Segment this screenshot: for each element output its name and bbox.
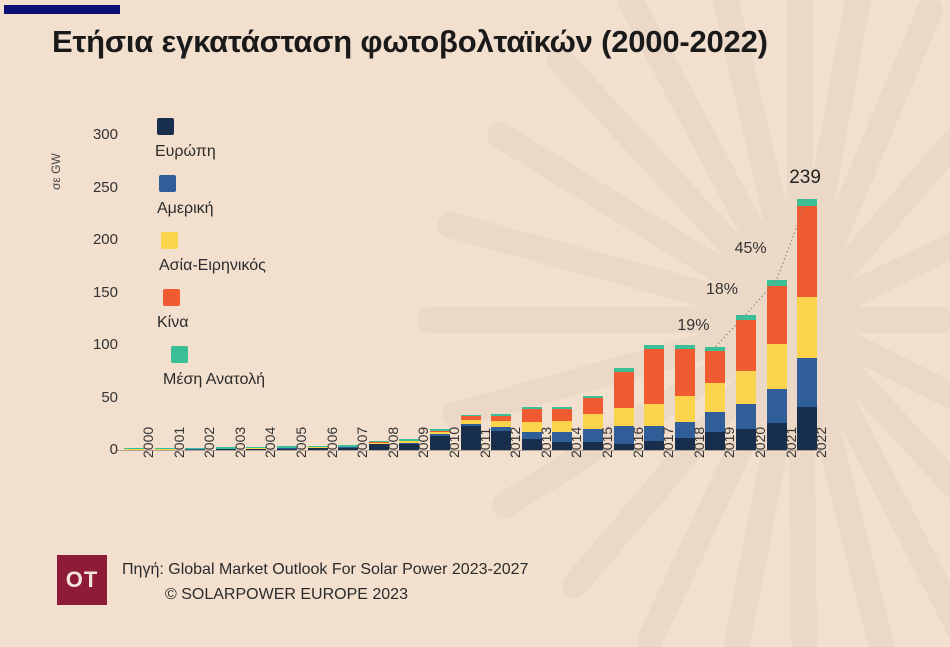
x-tick-label: 2004 [262,427,278,458]
infographic-canvas: Ετήσια εγκατάσταση φωτοβολταϊκών (2000-2… [0,0,950,647]
x-tick-label: 2014 [568,427,584,458]
x-tick-label: 2019 [721,427,737,458]
x-tick-label: 2008 [385,427,401,458]
x-tick-label: 2016 [630,427,646,458]
x-tick-label: 2022 [813,427,829,458]
source-line-1: Πηγή: Global Market Outlook For Solar Po… [122,561,528,579]
legend-swatch [157,118,174,135]
legend-swatch [171,346,188,363]
accent-bar [4,5,120,14]
x-tick-label: 2009 [415,427,431,458]
x-tick-label: 2010 [446,427,462,458]
x-tick-label: 2012 [507,427,523,458]
y-axis-label: σε GW [49,153,63,190]
x-tick-label: 2005 [293,427,309,458]
ot-logo: ΟΤ [57,555,107,605]
growth-annotation: 19% [677,317,709,335]
legend-label: Κίνα [157,314,188,332]
legend-label: Ασία-Ειρηνικός [159,257,266,275]
legend-label: Ευρώπη [155,143,216,161]
x-tick-label: 2011 [477,428,493,458]
legend-swatch [159,175,176,192]
x-axis-ticks: 2000200120022003200420052006200720082009… [0,0,950,520]
page-title: Ετήσια εγκατάσταση φωτοβολταϊκών (2000-2… [52,24,768,60]
x-tick-label: 2001 [171,427,187,458]
legend-label: Αμερική [157,200,214,218]
chart-footer: ΟΤ Πηγή: Global Market Outlook For Solar… [0,535,950,647]
x-tick-label: 2006 [324,427,340,458]
growth-annotation: 45% [735,240,767,258]
x-tick-label: 2021 [783,427,799,458]
x-tick-label: 2015 [599,427,615,458]
x-tick-label: 2000 [140,427,156,458]
value-label: 239 [789,167,821,189]
x-tick-label: 2018 [691,427,707,458]
legend-label: Μέση Ανατολή [163,371,265,389]
source-line-2: © SOLARPOWER EUROPE 2023 [165,586,408,604]
legend-swatch [161,232,178,249]
x-tick-label: 2003 [232,427,248,458]
chart-plot-area: 050100150200250300 200020012002200320042… [0,0,950,520]
x-tick-label: 2002 [201,427,217,458]
x-tick-label: 2007 [354,427,370,458]
growth-annotation: 18% [706,281,738,299]
x-tick-label: 2013 [538,427,554,458]
x-tick-label: 2017 [660,427,676,458]
legend-swatch [163,289,180,306]
x-tick-label: 2020 [752,427,768,458]
